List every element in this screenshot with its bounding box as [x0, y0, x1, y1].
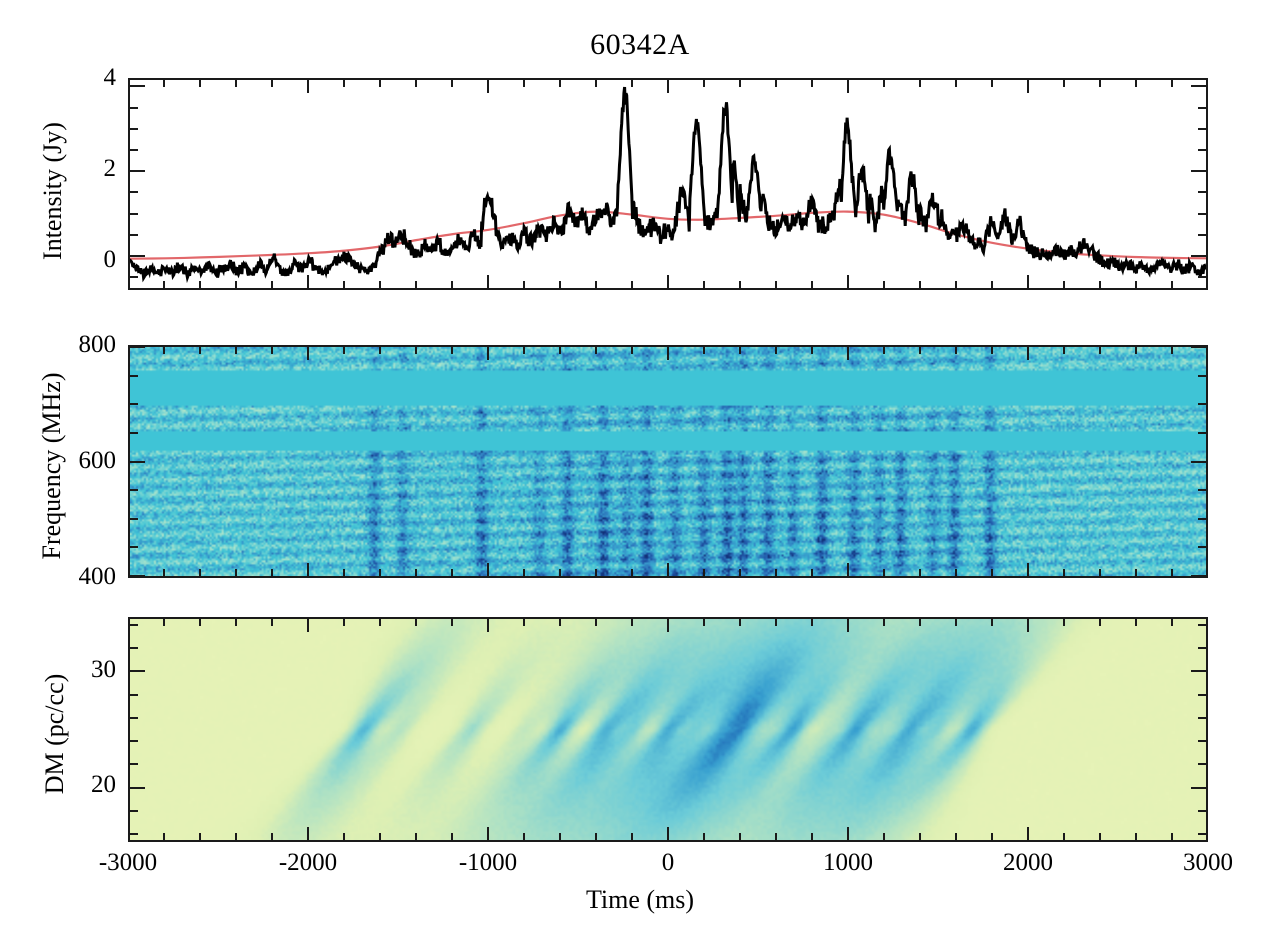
- tick-mark: [1027, 275, 1029, 288]
- tick-mark: [130, 107, 138, 109]
- tick-mark: [1198, 107, 1206, 109]
- tick-mark: [847, 347, 849, 360]
- tick-mark: [130, 375, 138, 377]
- tick-mark: [559, 281, 561, 288]
- tick-mark: [1191, 575, 1206, 577]
- tick-mark: [451, 80, 453, 87]
- dm-tick-30: 30: [56, 656, 116, 684]
- tick-mark: [343, 569, 345, 576]
- tick-mark: [955, 281, 957, 288]
- tick-mark: [307, 563, 309, 576]
- tick-mark: [1198, 740, 1206, 742]
- tick-mark: [130, 432, 138, 434]
- tick-mark: [631, 80, 633, 87]
- tick-mark: [1171, 80, 1173, 87]
- tick-mark: [130, 403, 138, 405]
- tick-mark: [163, 281, 165, 288]
- tick-mark: [271, 569, 273, 576]
- tick-mark: [847, 563, 849, 576]
- time-tick-2000: 2000: [948, 849, 1108, 877]
- tick-mark: [379, 80, 381, 87]
- tick-mark: [379, 569, 381, 576]
- tick-mark: [1198, 717, 1206, 719]
- panel-dynamic-spectrum: [128, 345, 1208, 578]
- tick-mark: [595, 619, 597, 626]
- tick-mark: [811, 619, 813, 626]
- tick-mark: [739, 281, 741, 288]
- tick-mark: [631, 347, 633, 354]
- tick-mark: [1191, 346, 1206, 348]
- tick-mark: [1135, 281, 1137, 288]
- tick-mark: [487, 80, 489, 93]
- tick-mark: [1063, 80, 1065, 87]
- tick-mark: [1198, 624, 1206, 626]
- tick-mark: [919, 833, 921, 840]
- tick-mark: [1171, 619, 1173, 626]
- tick-mark: [595, 833, 597, 840]
- tick-mark: [523, 833, 525, 840]
- tick-mark: [1198, 234, 1206, 236]
- tick-mark: [379, 347, 381, 354]
- tick-mark: [1099, 569, 1101, 576]
- tick-mark: [1027, 563, 1029, 576]
- tick-mark: [991, 569, 993, 576]
- tick-mark: [235, 281, 237, 288]
- tick-mark: [451, 619, 453, 626]
- time-tick-0: 0: [588, 849, 748, 877]
- tick-mark: [415, 80, 417, 87]
- tick-mark: [811, 569, 813, 576]
- tick-mark: [1191, 170, 1206, 172]
- tick-mark: [955, 833, 957, 840]
- tick-mark: [775, 347, 777, 354]
- tick-mark: [1063, 833, 1065, 840]
- tick-mark: [775, 619, 777, 626]
- tick-mark: [739, 80, 741, 87]
- tick-mark: [199, 281, 201, 288]
- tick-mark: [163, 833, 165, 840]
- tick-mark: [1063, 281, 1065, 288]
- dm-butterfly-image: [130, 619, 1206, 840]
- panel-dm-time: [128, 617, 1208, 842]
- tick-mark: [163, 80, 165, 87]
- tick-mark: [451, 347, 453, 354]
- time-tick-m2000: -2000: [228, 849, 388, 877]
- tick-mark: [1198, 546, 1206, 548]
- time-tick-1000: 1000: [768, 849, 928, 877]
- tick-mark: [130, 518, 138, 520]
- tick-mark: [343, 80, 345, 87]
- tick-mark: [307, 827, 309, 840]
- intensity-tick-4: 4: [58, 64, 116, 92]
- tick-mark: [130, 255, 145, 257]
- tick-mark: [523, 281, 525, 288]
- tick-mark: [1027, 619, 1029, 632]
- tick-mark: [199, 80, 201, 87]
- tick-mark: [271, 281, 273, 288]
- tick-mark: [955, 619, 957, 626]
- time-tick-3000: 3000: [1128, 849, 1280, 877]
- tick-mark: [883, 569, 885, 576]
- tick-mark: [739, 347, 741, 354]
- tick-mark: [487, 827, 489, 840]
- tick-mark: [1099, 833, 1101, 840]
- tick-mark: [130, 717, 138, 719]
- frequency-tick-400: 400: [28, 563, 116, 591]
- tick-mark: [919, 569, 921, 576]
- tick-mark: [991, 619, 993, 626]
- frequency-tick-800: 800: [28, 331, 116, 359]
- tick-mark: [487, 619, 489, 632]
- tick-mark: [451, 569, 453, 576]
- tick-mark: [1171, 833, 1173, 840]
- tick-mark: [130, 833, 138, 835]
- tick-mark: [775, 80, 777, 87]
- tick-mark: [130, 694, 138, 696]
- tick-mark: [1171, 347, 1173, 354]
- time-tick-m1000: -1000: [408, 849, 568, 877]
- tick-mark: [1135, 347, 1137, 354]
- tick-mark: [523, 80, 525, 87]
- tick-mark: [919, 347, 921, 354]
- tick-mark: [883, 833, 885, 840]
- tick-mark: [955, 347, 957, 354]
- tick-mark: [1198, 276, 1206, 278]
- tick-mark: [1198, 128, 1206, 130]
- tick-mark: [1099, 347, 1101, 354]
- tick-mark: [343, 833, 345, 840]
- tick-mark: [415, 619, 417, 626]
- waterfall-image: [130, 347, 1206, 576]
- tick-mark: [1198, 213, 1206, 215]
- tick-mark: [1099, 281, 1101, 288]
- tick-mark: [271, 619, 273, 626]
- tick-mark: [1198, 647, 1206, 649]
- tick-mark: [811, 80, 813, 87]
- tick-mark: [343, 347, 345, 354]
- tick-mark: [415, 281, 417, 288]
- tick-mark: [1198, 694, 1206, 696]
- tick-mark: [307, 80, 309, 93]
- pulse-profile-curve: [130, 87, 1206, 278]
- tick-mark: [130, 276, 138, 278]
- tick-mark: [883, 281, 885, 288]
- tick-mark: [991, 347, 993, 354]
- tick-mark: [919, 281, 921, 288]
- time-tick-m3000: -3000: [48, 849, 208, 877]
- tick-mark: [811, 347, 813, 354]
- tick-mark: [199, 833, 201, 840]
- tick-mark: [343, 281, 345, 288]
- tick-mark: [1191, 255, 1206, 257]
- tick-mark: [595, 281, 597, 288]
- tick-mark: [667, 619, 669, 632]
- tick-mark: [811, 833, 813, 840]
- tick-mark: [667, 80, 669, 93]
- tick-mark: [307, 275, 309, 288]
- tick-mark: [1099, 80, 1101, 87]
- tick-mark: [631, 833, 633, 840]
- tick-mark: [130, 191, 138, 193]
- tick-mark: [559, 569, 561, 576]
- tick-mark: [130, 575, 145, 577]
- tick-mark: [631, 619, 633, 626]
- tick-mark: [559, 833, 561, 840]
- tick-mark: [1198, 763, 1206, 765]
- tick-mark: [1198, 489, 1206, 491]
- tick-mark: [130, 624, 138, 626]
- tick-mark: [1191, 461, 1206, 463]
- tick-mark: [1198, 149, 1206, 151]
- tick-mark: [955, 80, 957, 87]
- tick-mark: [559, 80, 561, 87]
- tick-mark: [703, 281, 705, 288]
- tick-mark: [883, 80, 885, 87]
- intensity-tick-0: 0: [58, 246, 116, 274]
- tick-mark: [595, 569, 597, 576]
- tick-mark: [739, 619, 741, 626]
- panel-pulse-profile: [128, 78, 1208, 290]
- figure-root: 60342A Intensity (Jy) Frequency (MHz) DM…: [0, 0, 1280, 935]
- tick-mark: [130, 489, 138, 491]
- tick-mark: [235, 569, 237, 576]
- tick-mark: [847, 827, 849, 840]
- frequency-tick-600: 600: [28, 447, 116, 475]
- tick-mark: [595, 80, 597, 87]
- tick-mark: [523, 347, 525, 354]
- tick-mark: [667, 563, 669, 576]
- tick-mark: [847, 619, 849, 632]
- tick-mark: [631, 569, 633, 576]
- tick-mark: [271, 347, 273, 354]
- tick-mark: [487, 275, 489, 288]
- tick-mark: [1198, 191, 1206, 193]
- tick-mark: [1191, 670, 1206, 672]
- tick-mark: [667, 275, 669, 288]
- tick-mark: [847, 275, 849, 288]
- tick-mark: [130, 763, 138, 765]
- tick-mark: [1063, 569, 1065, 576]
- tick-mark: [775, 569, 777, 576]
- tick-mark: [130, 787, 145, 789]
- tick-mark: [523, 619, 525, 626]
- tick-mark: [1191, 787, 1206, 789]
- pulse-profile-plot: [130, 80, 1206, 288]
- tick-mark: [379, 833, 381, 840]
- tick-mark: [919, 80, 921, 87]
- tick-mark: [1198, 833, 1206, 835]
- tick-mark: [1171, 281, 1173, 288]
- tick-mark: [271, 80, 273, 87]
- tick-mark: [991, 80, 993, 87]
- tick-mark: [955, 569, 957, 576]
- tick-mark: [703, 347, 705, 354]
- tick-mark: [1191, 85, 1206, 87]
- tick-mark: [130, 85, 145, 87]
- tick-mark: [130, 647, 138, 649]
- tick-mark: [847, 80, 849, 93]
- tick-mark: [130, 546, 138, 548]
- tick-mark: [271, 833, 273, 840]
- tick-mark: [130, 128, 138, 130]
- tick-mark: [883, 347, 885, 354]
- tick-mark: [307, 347, 309, 360]
- tick-mark: [1198, 403, 1206, 405]
- tick-mark: [703, 619, 705, 626]
- tick-mark: [130, 740, 138, 742]
- tick-mark: [343, 619, 345, 626]
- tick-mark: [703, 80, 705, 87]
- tick-mark: [130, 149, 138, 151]
- tick-mark: [1171, 569, 1173, 576]
- tick-mark: [1135, 569, 1137, 576]
- tick-mark: [1099, 619, 1101, 626]
- tick-mark: [451, 833, 453, 840]
- tick-mark: [1135, 80, 1137, 87]
- tick-mark: [775, 833, 777, 840]
- tick-mark: [415, 833, 417, 840]
- tick-mark: [991, 833, 993, 840]
- tick-mark: [919, 619, 921, 626]
- tick-mark: [559, 347, 561, 354]
- dm-tick-20: 20: [56, 771, 116, 799]
- tick-mark: [559, 619, 561, 626]
- tick-mark: [1135, 833, 1137, 840]
- tick-mark: [703, 569, 705, 576]
- tick-mark: [235, 347, 237, 354]
- tick-mark: [1027, 827, 1029, 840]
- tick-mark: [1063, 619, 1065, 626]
- tick-mark: [130, 234, 138, 236]
- tick-mark: [163, 347, 165, 354]
- tick-mark: [811, 281, 813, 288]
- tick-mark: [235, 833, 237, 840]
- tick-mark: [631, 281, 633, 288]
- tick-mark: [667, 827, 669, 840]
- tick-mark: [199, 569, 201, 576]
- tick-mark: [667, 347, 669, 360]
- tick-mark: [130, 170, 145, 172]
- tick-mark: [991, 281, 993, 288]
- tick-mark: [739, 833, 741, 840]
- tick-mark: [379, 281, 381, 288]
- time-axis-title: Time (ms): [0, 885, 1280, 915]
- tick-mark: [523, 569, 525, 576]
- tick-mark: [130, 346, 145, 348]
- tick-mark: [703, 833, 705, 840]
- tick-mark: [235, 619, 237, 626]
- tick-mark: [487, 563, 489, 576]
- tick-mark: [1135, 619, 1137, 626]
- tick-mark: [163, 569, 165, 576]
- tick-mark: [307, 619, 309, 632]
- tick-mark: [130, 810, 138, 812]
- tick-mark: [487, 347, 489, 360]
- tick-mark: [163, 619, 165, 626]
- tick-mark: [130, 461, 145, 463]
- tick-mark: [130, 670, 145, 672]
- tick-mark: [130, 213, 138, 215]
- tick-mark: [235, 80, 237, 87]
- tick-mark: [1198, 518, 1206, 520]
- page-title: 60342A: [0, 28, 1280, 62]
- tick-mark: [1198, 810, 1206, 812]
- tick-mark: [199, 347, 201, 354]
- tick-mark: [1198, 375, 1206, 377]
- tick-mark: [379, 619, 381, 626]
- tick-mark: [595, 347, 597, 354]
- tick-mark: [1063, 347, 1065, 354]
- tick-mark: [451, 281, 453, 288]
- tick-mark: [415, 347, 417, 354]
- intensity-tick-2: 2: [58, 155, 116, 183]
- tick-mark: [415, 569, 417, 576]
- tick-mark: [199, 619, 201, 626]
- tick-mark: [1027, 347, 1029, 360]
- tick-mark: [883, 619, 885, 626]
- tick-mark: [1027, 80, 1029, 93]
- tick-mark: [775, 281, 777, 288]
- tick-mark: [1198, 432, 1206, 434]
- tick-mark: [739, 569, 741, 576]
